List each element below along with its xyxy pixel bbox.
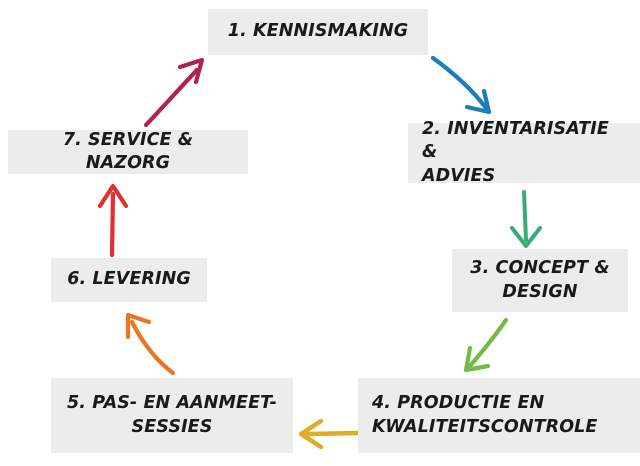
step-label-7: 7. SERVICE & NAZORG [22,129,234,175]
step-label-4: 4. PRODUCTIE EN KWALITEITSCONTROLE [372,392,597,438]
step-label-5: 5. PAS- EN AANMEET- SESSIES [67,392,277,438]
step-label-1: 1. KENNISMAKING [228,20,408,43]
step-node-5[interactable]: 5. PAS- EN AANMEET- SESSIES [51,378,293,453]
arrow-3-to-4 [466,320,506,370]
step-node-4[interactable]: 4. PRODUCTIE EN KWALITEITSCONTROLE [358,378,640,453]
step-label-6: 6. LEVERING [67,268,191,291]
arrow-5-to-6 [128,315,173,373]
arrow-7-to-1 [146,60,202,125]
step-node-2[interactable]: 2. INVENTARISATIE & ADVIES [408,123,640,183]
arrow-2-to-3 [512,192,540,246]
arrow-6-to-7 [100,186,126,255]
step-node-6[interactable]: 6. LEVERING [51,258,207,302]
step-node-1[interactable]: 1. KENNISMAKING [208,9,428,55]
diagram-canvas: 1. KENNISMAKING 2. INVENTARISATIE & ADVI… [0,0,640,466]
step-label-3: 3. CONCEPT & DESIGN [470,257,609,303]
arrow-1-to-2 [433,58,489,112]
step-label-2: 2. INVENTARISATIE & ADVIES [422,118,626,187]
step-node-3[interactable]: 3. CONCEPT & DESIGN [452,249,628,312]
arrow-4-to-5 [301,421,359,447]
step-node-7[interactable]: 7. SERVICE & NAZORG [8,130,248,174]
